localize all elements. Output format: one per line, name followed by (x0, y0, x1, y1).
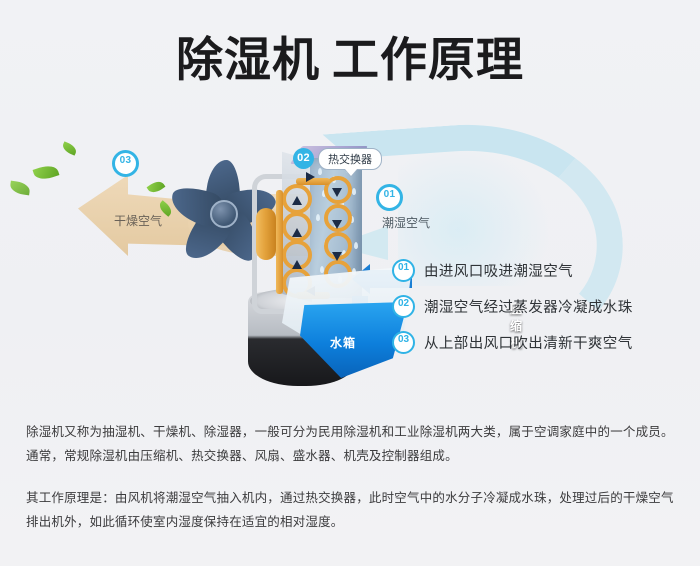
dry-air-label: 干燥空气 (114, 212, 162, 229)
diagram-badge-02: 02 (293, 148, 314, 169)
leaf-icon (33, 163, 60, 183)
principle-steps-list: 01 由进风口吸进潮湿空气 02 潮湿空气经过蒸发器冷凝成水珠 03 从上部出风… (392, 252, 692, 360)
diagram-badge-03: 03 (112, 150, 139, 177)
step-badge-03: 03 (392, 331, 415, 354)
flow-arrow-down-icon (332, 220, 342, 229)
step-badge-02: 02 (392, 295, 415, 318)
flow-arrow-right-icon (306, 172, 315, 182)
heat-exchanger-label: 热交换器 (328, 154, 372, 166)
step-text-02: 潮湿空气经过蒸发器冷凝成水珠 (424, 296, 633, 317)
leaf-icon (61, 141, 78, 155)
flow-arrow-down-icon (332, 188, 342, 197)
page-title: 除湿机工作原理 (0, 32, 700, 88)
water-tank-label: 水箱 (330, 334, 356, 351)
coil-pipe-icon (276, 190, 283, 294)
diagram-badge-01: 01 (376, 184, 403, 211)
description-paragraph-1: 除湿机又称为抽湿机、干燥机、除湿器，一般可分为民用除湿机和工业除湿机两大类，属于… (26, 420, 676, 468)
flow-arrow-down-icon (332, 252, 342, 261)
description-section: 除湿机又称为抽湿机、干燥机、除湿器，一般可分为民用除湿机和工业除湿机两大类，属于… (26, 420, 676, 534)
flow-arrow-up-icon (292, 228, 302, 237)
leaf-icon (9, 181, 30, 196)
heat-exchanger-callout: 热交换器 (318, 148, 382, 170)
list-item: 02 潮湿空气经过蒸发器冷凝成水珠 (392, 288, 692, 324)
step-badge-01: 01 (392, 259, 415, 282)
title-part-topic: 工作原理 (332, 33, 524, 86)
compressor-cylinder-icon (256, 208, 276, 260)
leaf-icon (147, 178, 166, 195)
page-root: 除湿机工作原理 (0, 0, 700, 566)
step-text-01: 由进风口吸进潮湿空气 (424, 260, 573, 281)
coil-icon (282, 212, 312, 242)
flow-arrow-up-icon (292, 196, 302, 205)
list-item: 03 从上部出风口吹出清新干爽空气 (392, 324, 692, 360)
step-text-03: 从上部出风口吹出清新干爽空气 (424, 332, 633, 353)
list-item: 01 由进风口吸进潮湿空气 (392, 252, 692, 288)
flow-arrow-up-icon (292, 260, 302, 269)
description-paragraph-2: 其工作原理是：由风机将潮湿空气抽入机内，通过热交换器，此时空气中的水分子冷凝成水… (26, 486, 676, 534)
humid-air-label: 潮湿空气 (382, 214, 430, 231)
title-part-product: 除湿机 (176, 33, 320, 86)
